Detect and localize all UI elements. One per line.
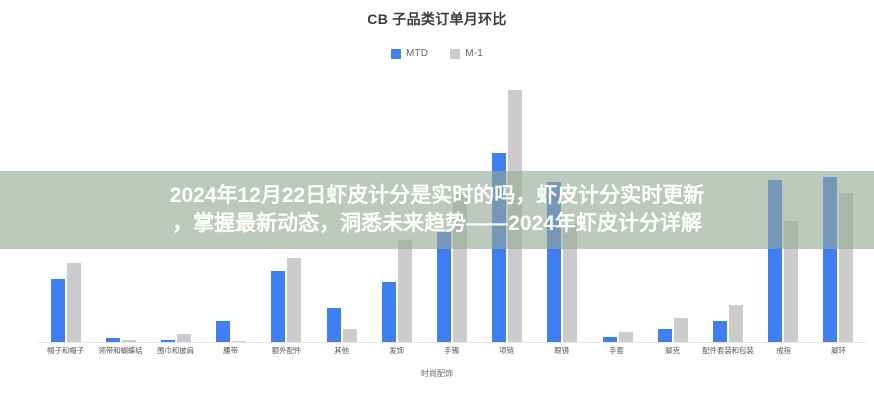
x-axis-label: 发饰 <box>371 345 422 355</box>
x-axis-label: 脚克 <box>647 345 698 355</box>
x-axis-title: 时尚配饰 <box>0 368 874 379</box>
legend-label-mtd: MTD <box>406 48 428 59</box>
x-axis-label: 额外配件 <box>261 345 312 355</box>
x-axis-label: 戒指 <box>758 345 809 355</box>
x-axis-label: 围巾和披肩 <box>150 345 201 355</box>
x-axis-label: 项链 <box>481 345 532 355</box>
bar-mtd[interactable] <box>658 329 672 342</box>
bar-mtd[interactable] <box>713 321 727 342</box>
bar-m1[interactable] <box>398 240 412 342</box>
legend-swatch-mtd <box>391 49 401 59</box>
x-axis-label: 脚环 <box>813 345 864 355</box>
bar-mtd[interactable] <box>216 321 230 342</box>
x-axis-label: 腰带 <box>206 345 257 355</box>
x-axis-label: 领带和蝴蝶结 <box>95 345 146 355</box>
legend-swatch-m1 <box>450 49 460 59</box>
bar-m1[interactable] <box>67 263 81 342</box>
bar-m1[interactable] <box>619 332 633 342</box>
bar-m1[interactable] <box>287 258 301 342</box>
x-axis-label: 眼镜 <box>536 345 587 355</box>
x-axis-line <box>38 342 866 343</box>
legend-label-m1: M-1 <box>465 48 483 59</box>
chart-legend: MTD M-1 <box>0 48 874 59</box>
x-axis-label: 手套 <box>592 345 643 355</box>
bar-mtd[interactable] <box>51 279 65 342</box>
x-axis-label: 手镯 <box>426 345 477 355</box>
overlay-banner-background <box>0 171 874 249</box>
chart-screenshot: CB 子品类订单月环比 MTD M-1 帽子和帽子领带和蝴蝶结围巾和披肩腰带额外… <box>0 0 874 400</box>
bar-mtd[interactable] <box>271 271 285 342</box>
bar-m1[interactable] <box>729 305 743 342</box>
x-axis-category-labels: 帽子和帽子领带和蝴蝶结围巾和披肩腰带额外配件其他发饰手镯项链眼镜手套脚克配件套装… <box>38 345 866 356</box>
x-axis-label: 其他 <box>316 345 367 355</box>
bar-m1[interactable] <box>674 318 688 342</box>
bar-mtd[interactable] <box>382 282 396 342</box>
bar-mtd[interactable] <box>327 308 341 342</box>
bar-m1[interactable] <box>343 329 357 342</box>
legend-item-m1[interactable]: M-1 <box>450 48 483 59</box>
chart-title: CB 子品类订单月环比 <box>0 9 874 29</box>
x-axis-label: 配件套装和包装 <box>702 345 754 355</box>
legend-item-mtd[interactable]: MTD <box>391 48 428 59</box>
x-axis-label: 帽子和帽子 <box>40 345 91 355</box>
bar-m1[interactable] <box>177 334 191 342</box>
